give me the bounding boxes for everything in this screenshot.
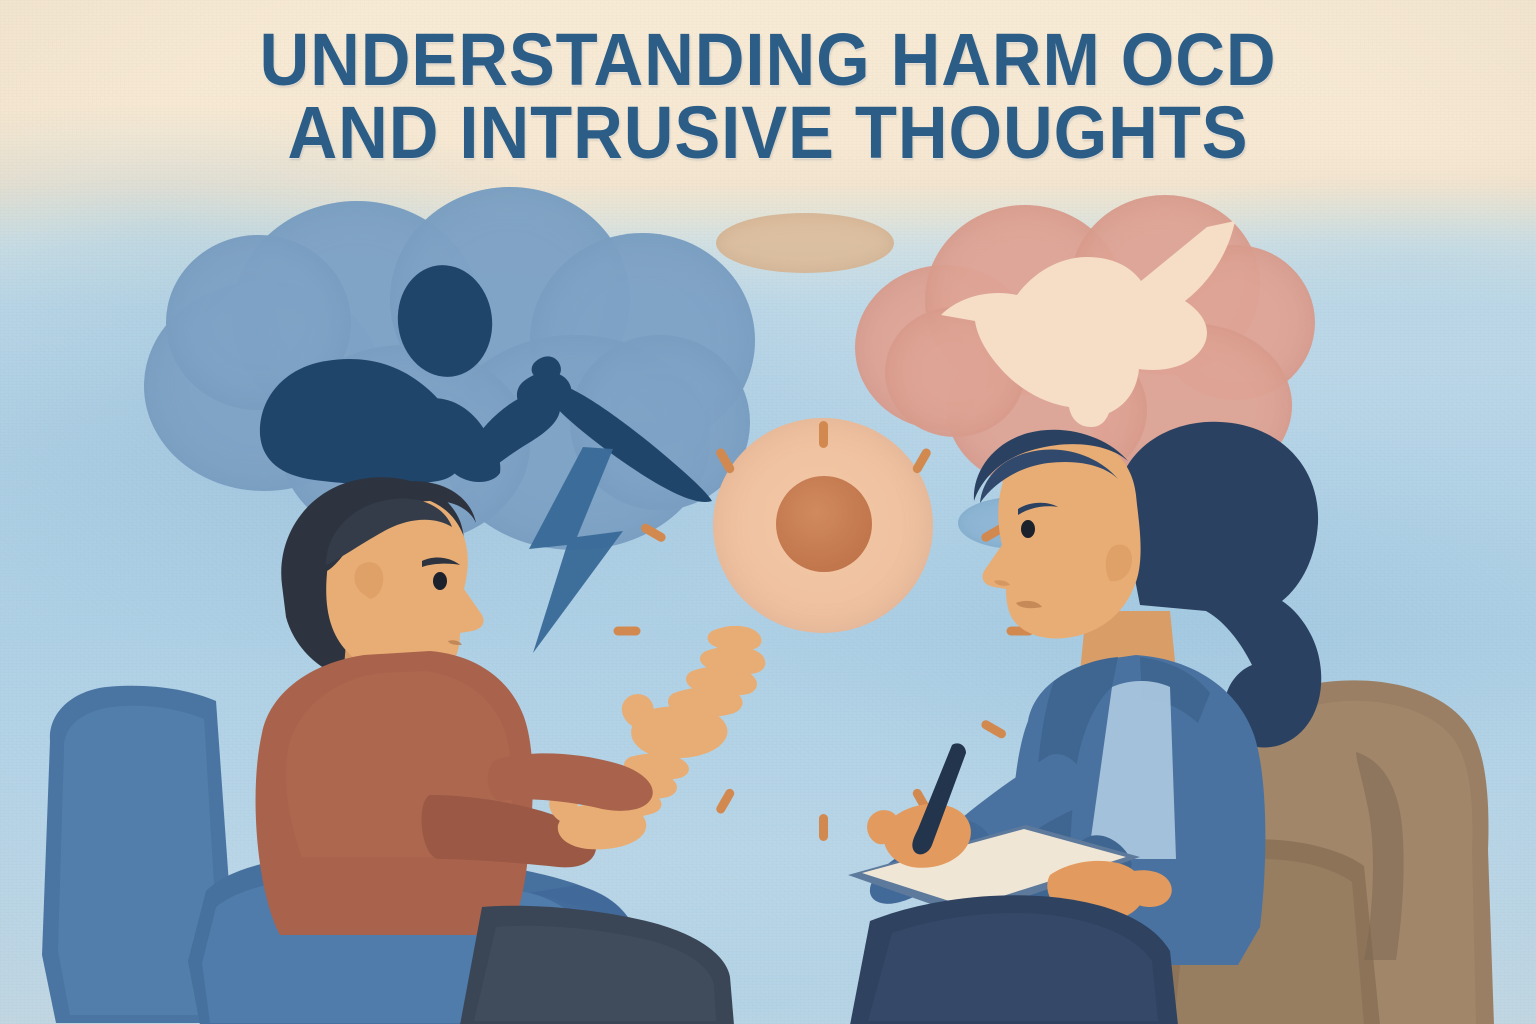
poster-title-line-2: AND INTRUSIVE THOUGHTS [54,97,1482,170]
poster-title: UNDERSTANDING HARM OCD AND INTRUSIVE THO… [0,24,1536,169]
poster-illustration: UNDERSTANDING HARM OCD AND INTRUSIVE THO… [0,0,1536,1024]
sun-ray [819,814,828,841]
client-hand-upper [622,626,766,758]
sun-ray [819,421,828,448]
man-client-gesturing [130,465,770,1024]
woman-therapist-taking-notes [840,405,1420,1024]
poster-title-line-1: UNDERSTANDING HARM OCD [54,24,1482,97]
mini-bubble-tan-top [716,213,894,273]
